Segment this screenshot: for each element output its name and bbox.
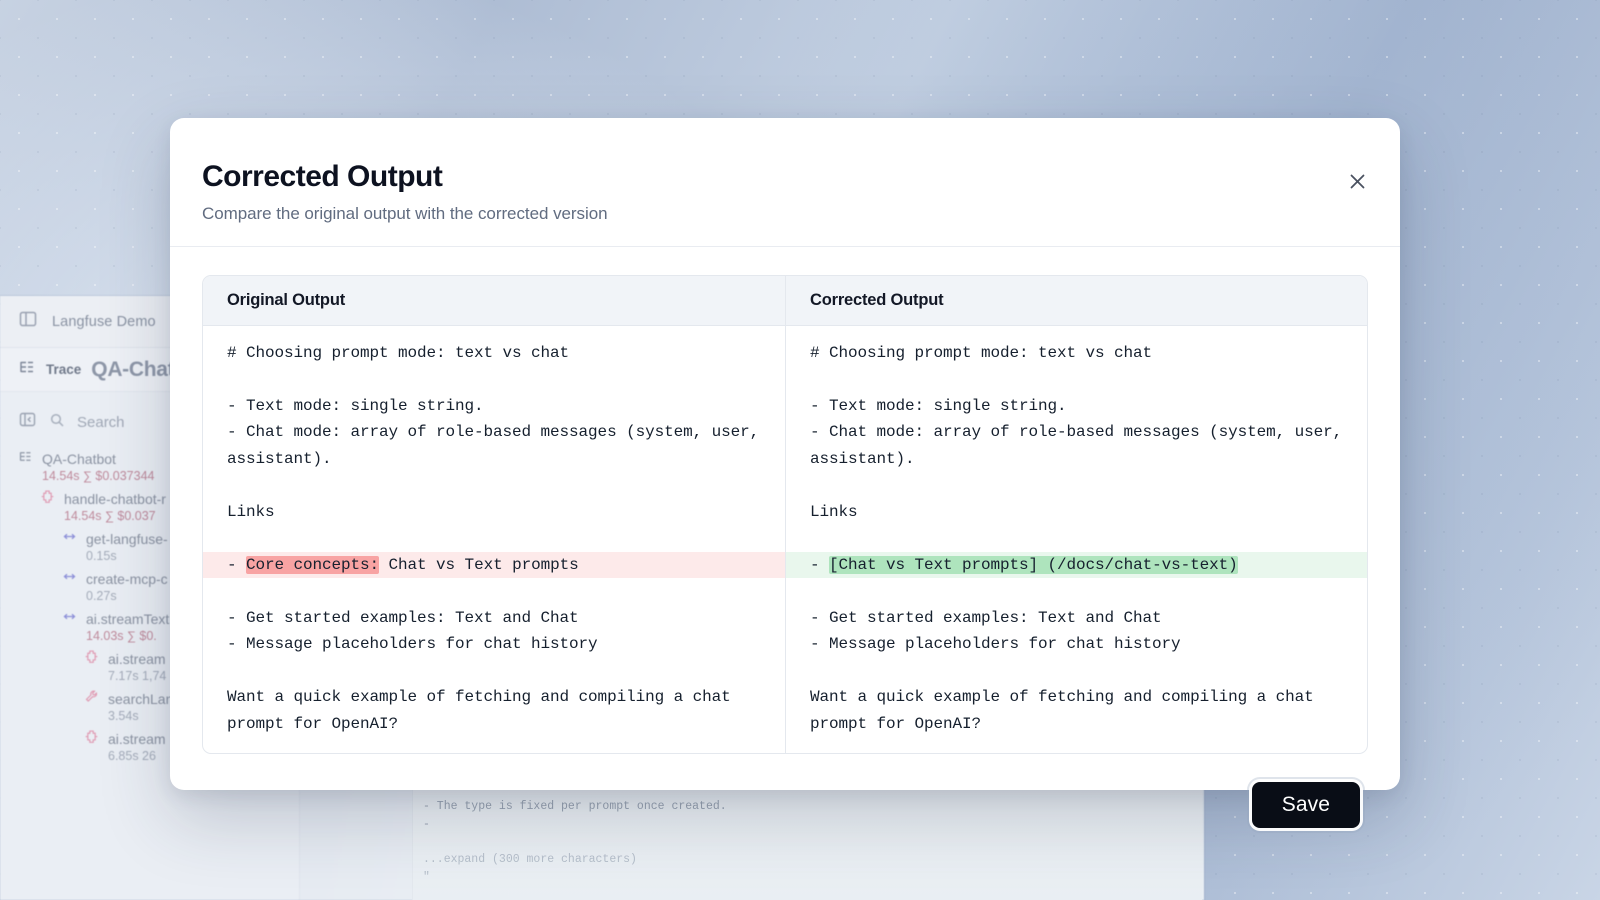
trace-icon [18, 358, 36, 381]
diff-line: Want a quick example of fetching and com… [203, 684, 785, 737]
code-line [423, 834, 1202, 852]
diff-line: - Chat mode: array of role-based message… [786, 419, 1367, 472]
diff-line-blank [786, 658, 1367, 685]
tree-item-label: QA-Chatbot [42, 451, 116, 467]
diff-line: - Get started examples: Text and Chat [786, 605, 1367, 632]
search-input-placeholder[interactable]: Search [77, 414, 125, 431]
tool-icon [62, 569, 77, 589]
span-icon [40, 489, 55, 509]
tree-item-label: ai.streamText [86, 611, 169, 627]
diff-word-highlight: Core concepts: [246, 556, 379, 574]
diff-line-blank [203, 366, 785, 393]
save-button[interactable]: Save [1252, 782, 1360, 828]
diff-word-highlight: [Chat vs Text prompts] (/docs/chat-vs-te… [829, 556, 1238, 574]
diff-column-original: # Choosing prompt mode: text vs chat - T… [203, 326, 785, 754]
trace-label: Trace [46, 362, 81, 377]
diff-line: - Message placeholders for chat history [203, 631, 785, 658]
tool-icon [62, 529, 77, 549]
tree-item-label: ai.stream [108, 731, 166, 747]
diff-line: - Chat mode: array of role-based message… [203, 419, 785, 472]
diff-column-corrected: # Choosing prompt mode: text vs chat - T… [785, 326, 1367, 754]
diff-line-added: - [Chat vs Text prompts] (/docs/chat-vs-… [786, 552, 1367, 579]
diff-line-blank [203, 578, 785, 605]
diff-line-blank [786, 578, 1367, 605]
modal-body: Original Output Corrected Output # Choos… [170, 247, 1400, 755]
diff-line-blank [786, 366, 1367, 393]
page-title: Corrected Output [202, 160, 1356, 195]
diff-line-blank [786, 525, 1367, 552]
diff-line: - Message placeholders for chat history [786, 631, 1367, 658]
diff-line-suffix: Chat vs Text prompts [379, 556, 579, 574]
span-icon [84, 729, 99, 749]
diff-table-header: Original Output Corrected Output [203, 276, 1367, 326]
tree-item-label: handle-chatbot-r [64, 491, 166, 507]
diff-line: Links [786, 499, 1367, 526]
diff-line: Links [203, 499, 785, 526]
close-button[interactable] [1342, 166, 1372, 196]
code-line: ...expand (300 more characters) [423, 851, 1202, 869]
tree-item-label: ai.stream [108, 651, 166, 667]
diff-line: - Text mode: single string. [786, 393, 1367, 420]
diff-line: # Choosing prompt mode: text vs chat [786, 340, 1367, 367]
wrench-icon [84, 689, 99, 709]
tree-item-label: create-mcp-c [86, 571, 168, 587]
diff-line: # Choosing prompt mode: text vs chat [203, 340, 785, 367]
tree-item-label: get-langfuse- [86, 531, 168, 547]
column-header-corrected: Corrected Output [785, 276, 1367, 325]
project-name: Langfuse Demo [52, 314, 156, 330]
diff-line: - Text mode: single string. [203, 393, 785, 420]
trace-name: QA-Chat [91, 358, 174, 382]
trace-icon [18, 449, 33, 469]
tool-icon [62, 609, 77, 629]
tree-item-label: searchLan [108, 691, 173, 707]
search-icon [49, 412, 65, 433]
diff-table-body: # Choosing prompt mode: text vs chat - T… [203, 326, 1367, 754]
diff-line: - Get started examples: Text and Chat [203, 605, 785, 632]
diff-line-blank [203, 658, 785, 685]
diff-line-prefix: - [227, 556, 246, 574]
diff-line-prefix: - [810, 556, 829, 574]
panel-collapse-icon[interactable] [18, 410, 37, 434]
diff-line-blank [203, 525, 785, 552]
diff-table: Original Output Corrected Output # Choos… [202, 275, 1368, 755]
corrected-output-modal: Corrected Output Compare the original ou… [170, 118, 1400, 790]
diff-line-removed: - Core concepts: Chat vs Text prompts [203, 552, 785, 579]
code-line: " [423, 869, 1202, 887]
span-icon [84, 649, 99, 669]
diff-line: Want a quick example of fetching and com… [786, 684, 1367, 737]
diff-line-blank [203, 472, 785, 499]
panel-toggle-icon[interactable] [18, 309, 38, 334]
modal-header: Corrected Output Compare the original ou… [170, 118, 1400, 246]
modal-subtitle: Compare the original output with the cor… [202, 204, 1356, 224]
diff-line-blank [786, 472, 1367, 499]
close-icon [1348, 172, 1367, 191]
modal-footer: Save [170, 754, 1400, 828]
column-header-original: Original Output [203, 276, 785, 325]
